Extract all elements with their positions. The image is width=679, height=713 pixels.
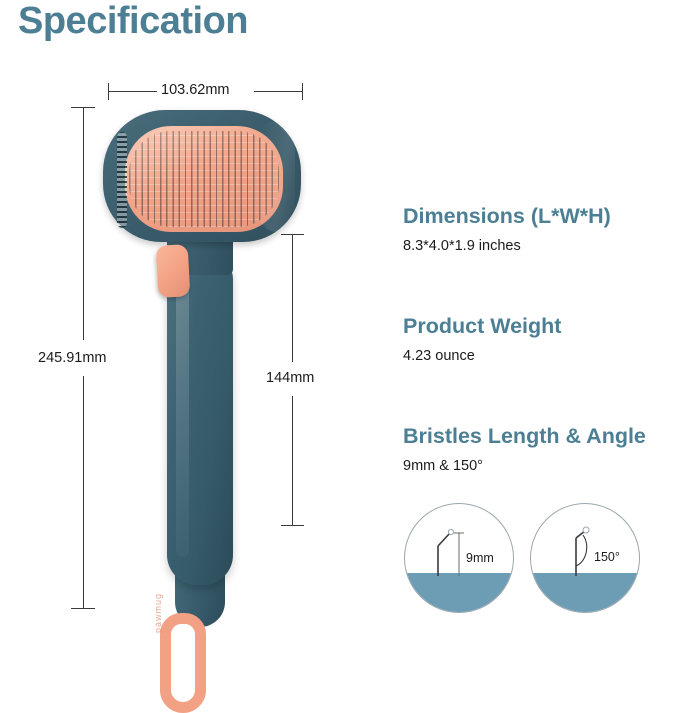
spec-weight-value: 4.23 ounce: [403, 345, 561, 367]
spec-dimensions: Dimensions (L*W*H) 8.3*4.0*1.9 inches: [403, 203, 611, 257]
height-dim-line-upper: [83, 107, 84, 340]
pad-gloss: [125, 126, 283, 232]
specification-page: Specification 103.62mm 245.91mm 144mm: [0, 0, 679, 621]
spec-dimensions-title: Dimensions (L*W*H): [403, 203, 611, 229]
height-dim-line-lower: [83, 376, 84, 608]
bristle-length-drawing: [405, 504, 513, 612]
bristle-pad: [125, 126, 283, 232]
brush-handle: [167, 255, 233, 585]
width-dim-line-left: [108, 91, 157, 92]
width-dim-cap-right: [302, 83, 303, 100]
product-illustration: pawmug: [95, 105, 310, 615]
bristle-angle-diagram: 150°: [530, 503, 640, 613]
brush-head-shell: [103, 110, 301, 242]
spec-bristles-value: 9mm & 150°: [403, 455, 646, 477]
spec-bristles: Bristles Length & Angle 9mm & 150°: [403, 423, 646, 477]
page-title: Specification: [18, 0, 248, 44]
head-edge-bristles: [117, 132, 127, 228]
spec-weight: Product Weight 4.23 ounce: [403, 313, 561, 367]
height-dim-cap-bottom: [71, 608, 95, 609]
bristle-length-label: 9mm: [466, 551, 494, 565]
width-dim-line-right: [254, 91, 302, 92]
brand-emboss: pawmug: [153, 563, 167, 633]
spec-bristles-title: Bristles Length & Angle: [403, 423, 646, 449]
bristle-angle-label: 150°: [594, 550, 620, 564]
spec-dimensions-value: 8.3*4.0*1.9 inches: [403, 235, 611, 257]
spec-weight-title: Product Weight: [403, 313, 561, 339]
width-dimension-label: 103.62mm: [161, 82, 230, 98]
bristle-length-diagram: 9mm: [404, 503, 514, 613]
bristle-angle-drawing: [531, 504, 639, 612]
retract-button: [156, 244, 191, 298]
